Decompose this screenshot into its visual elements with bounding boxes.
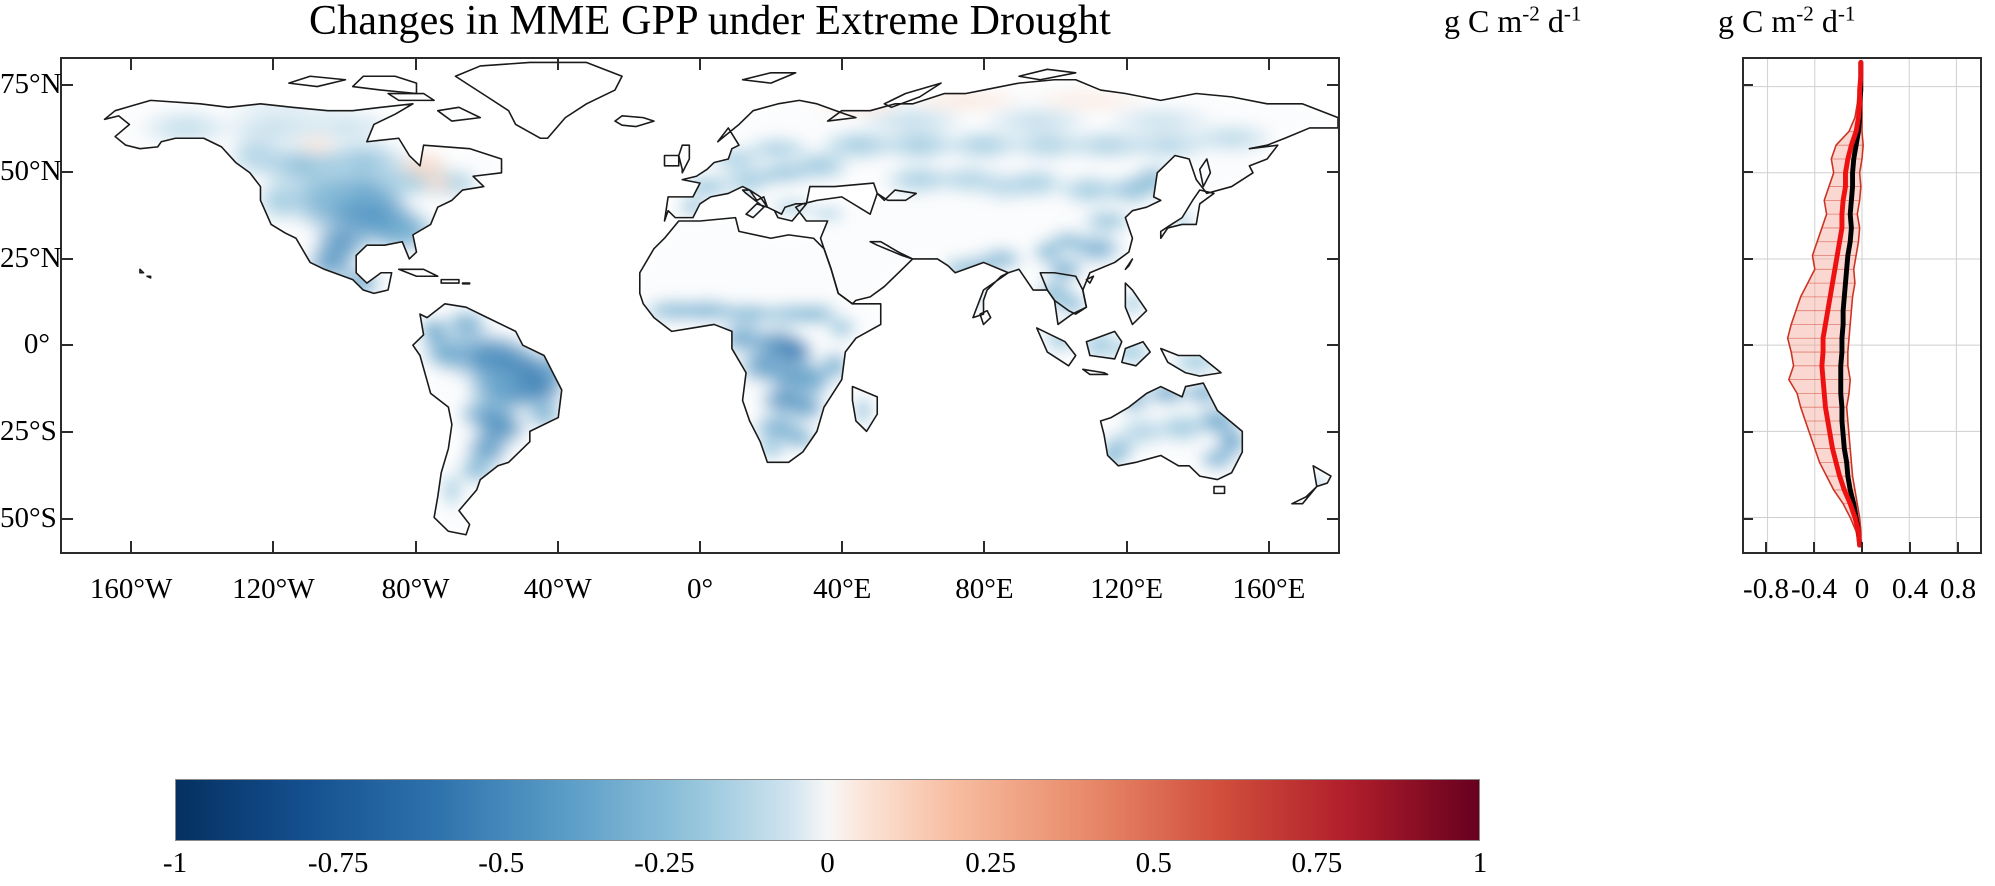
profile-x-tick (1765, 542, 1767, 553)
gpp-anomaly-cell (1115, 414, 1172, 449)
longitude-tick (983, 541, 985, 553)
latitude-tick (1327, 171, 1339, 173)
gpp-anomaly-cell (1079, 207, 1136, 235)
map-units-label: g C m-2 d-1 (1444, 2, 1581, 40)
latitude-label: 50°N (0, 157, 50, 186)
profile-x-label: 0.8 (1940, 575, 1976, 604)
gpp-anomaly-cell (1196, 445, 1238, 473)
gpp-anomaly-cell (441, 307, 491, 342)
longitude-tick (557, 58, 559, 70)
gpp-anomaly-cell (537, 349, 579, 384)
profile-canvas (1744, 59, 1980, 552)
profile-x-label: -0.8 (1743, 575, 1789, 604)
longitude-tick (415, 58, 417, 70)
profile-units-label: g C m-2 d-1 (1718, 2, 1855, 40)
longitude-tick (1126, 541, 1128, 553)
gpp-anomaly-cell (438, 469, 466, 510)
profile-x-tick (1957, 542, 1959, 553)
gpp-anomaly-cell (1168, 207, 1196, 235)
longitude-tick (557, 541, 559, 553)
colorbar-label: 0.5 (1136, 849, 1172, 878)
gpp-anomaly-cell (1026, 87, 1154, 115)
longitude-tick (1126, 58, 1128, 70)
latitude-tick (61, 344, 73, 346)
latitude-tick (1327, 344, 1339, 346)
profile-x-tick (1861, 542, 1863, 553)
gpp-anomaly-cell (824, 314, 859, 342)
latitude-tick (1327, 84, 1339, 86)
gpp-anomaly-cell (1111, 387, 1153, 415)
colorbar-label: 0.75 (1292, 849, 1343, 878)
longitude-tick (272, 58, 274, 70)
profile-y-tick (1742, 84, 1753, 86)
profile-uncertainty-band (1788, 62, 1864, 545)
latitude-tick (1327, 518, 1339, 520)
longitude-tick (1268, 58, 1270, 70)
gpp-anomaly-cell (292, 131, 342, 159)
latitude-tick (61, 258, 73, 260)
gpp-anomaly-cell (548, 335, 583, 363)
colorbar-label: -0.75 (308, 849, 368, 878)
latitude-tick (61, 171, 73, 173)
figure-root: Changes in MME GPP under Extreme Drought… (0, 0, 1995, 886)
profile-x-tick (1813, 542, 1815, 553)
gpp-anomaly-cell (817, 349, 852, 384)
latitude-tick (1327, 258, 1339, 260)
profile-x-label: 0.4 (1892, 575, 1928, 604)
figure-title: Changes in MME GPP under Extreme Drought (0, 0, 1420, 44)
latitude-tick (61, 431, 73, 433)
gpp-anomaly-field (105, 80, 1338, 535)
profile-x-tick (1909, 542, 1911, 553)
colorbar-label: -0.5 (478, 849, 524, 878)
world-map-panel[interactable] (60, 57, 1340, 554)
longitude-tick (841, 541, 843, 553)
colorbar-label: -1 (163, 849, 187, 878)
longitude-label: 160°E (1232, 575, 1305, 604)
latitude-tick (1327, 431, 1339, 433)
map-canvas (62, 59, 1338, 552)
latitude-label: 25°S (0, 417, 50, 446)
longitude-label: 160°W (90, 575, 172, 604)
longitude-tick (272, 541, 274, 553)
colorbar[interactable] (175, 779, 1480, 841)
gpp-anomaly-cell (377, 207, 441, 255)
longitude-tick (130, 58, 132, 70)
longitude-label: 120°E (1090, 575, 1163, 604)
latitude-label: 50°S (0, 504, 50, 533)
colorbar-label: 1 (1473, 849, 1488, 878)
profile-y-tick (1742, 171, 1753, 173)
gpp-anomaly-cell (335, 266, 385, 301)
colorbar-label: -0.25 (634, 849, 694, 878)
longitude-tick (699, 541, 701, 553)
longitude-label: 80°E (955, 575, 1013, 604)
longitude-tick (1268, 541, 1270, 553)
profile-y-tick (1742, 518, 1753, 520)
gpp-anomaly-cell (952, 283, 987, 311)
profile-x-label: -0.4 (1791, 575, 1837, 604)
profile-y-tick (1742, 258, 1753, 260)
gpp-anomaly-cell (214, 87, 370, 122)
profile-x-label: 0 (1855, 575, 1870, 604)
gpp-anomaly-cell (742, 135, 813, 163)
longitude-label: 120°W (232, 575, 314, 604)
latitude-tick (61, 518, 73, 520)
latitude-label: 75°N (0, 70, 50, 99)
longitude-label: 40°E (813, 575, 871, 604)
longitude-label: 40°W (524, 575, 592, 604)
longitude-label: 80°W (382, 575, 450, 604)
colorbar-label: 0 (820, 849, 835, 878)
latitude-label: 25°N (0, 244, 50, 273)
longitude-tick (841, 58, 843, 70)
longitude-label: 0° (687, 575, 713, 604)
longitude-tick (415, 541, 417, 553)
zonal-profile-panel[interactable] (1742, 57, 1982, 554)
gpp-anomaly-cell (852, 393, 873, 428)
latitude-label: 0° (0, 330, 50, 359)
gpp-anomaly-cell (1168, 349, 1225, 377)
colorbar-label: 0.25 (965, 849, 1016, 878)
longitude-tick (983, 58, 985, 70)
latitude-tick (61, 84, 73, 86)
colorbar-gradient (176, 780, 1479, 840)
profile-y-tick (1742, 344, 1753, 346)
longitude-tick (130, 541, 132, 553)
longitude-tick (699, 58, 701, 70)
profile-y-tick (1742, 431, 1753, 433)
gpp-anomaly-cell (416, 169, 458, 197)
